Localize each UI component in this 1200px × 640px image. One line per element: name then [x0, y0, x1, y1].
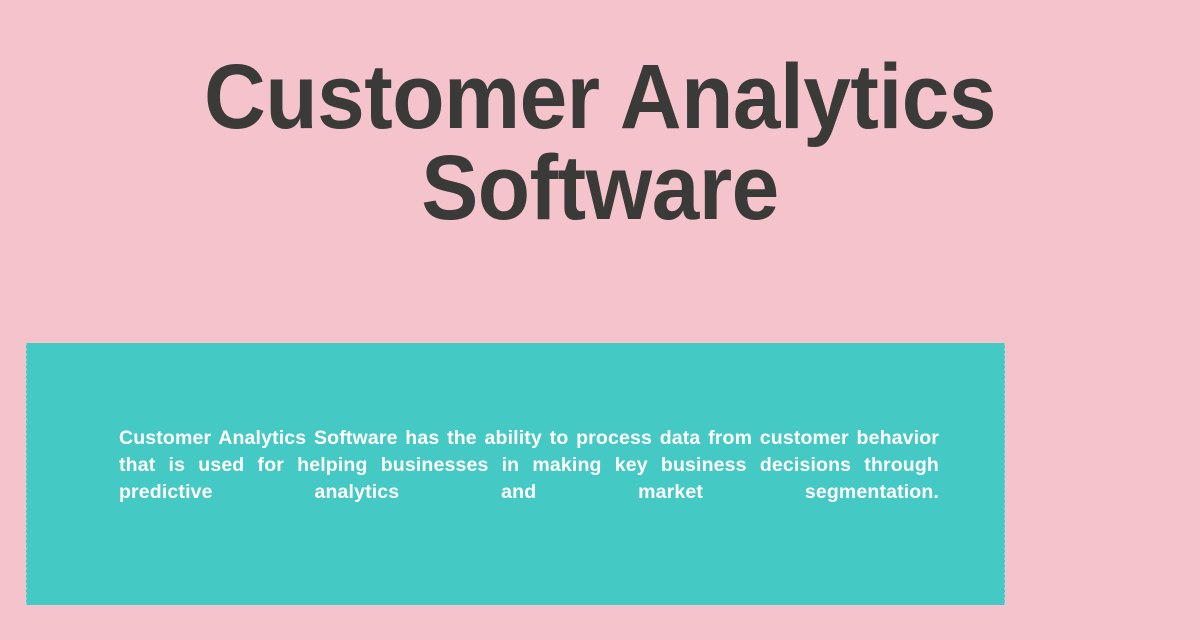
page-title: Customer Analytics Software — [0, 52, 1200, 234]
description-text: Customer Analytics Software has the abil… — [27, 343, 1004, 533]
description-callout-box: Customer Analytics Software has the abil… — [26, 343, 1005, 605]
slide-canvas: Customer Analytics Software Customer Ana… — [0, 0, 1200, 640]
page-title-text: Customer Analytics Software — [140, 52, 1061, 234]
